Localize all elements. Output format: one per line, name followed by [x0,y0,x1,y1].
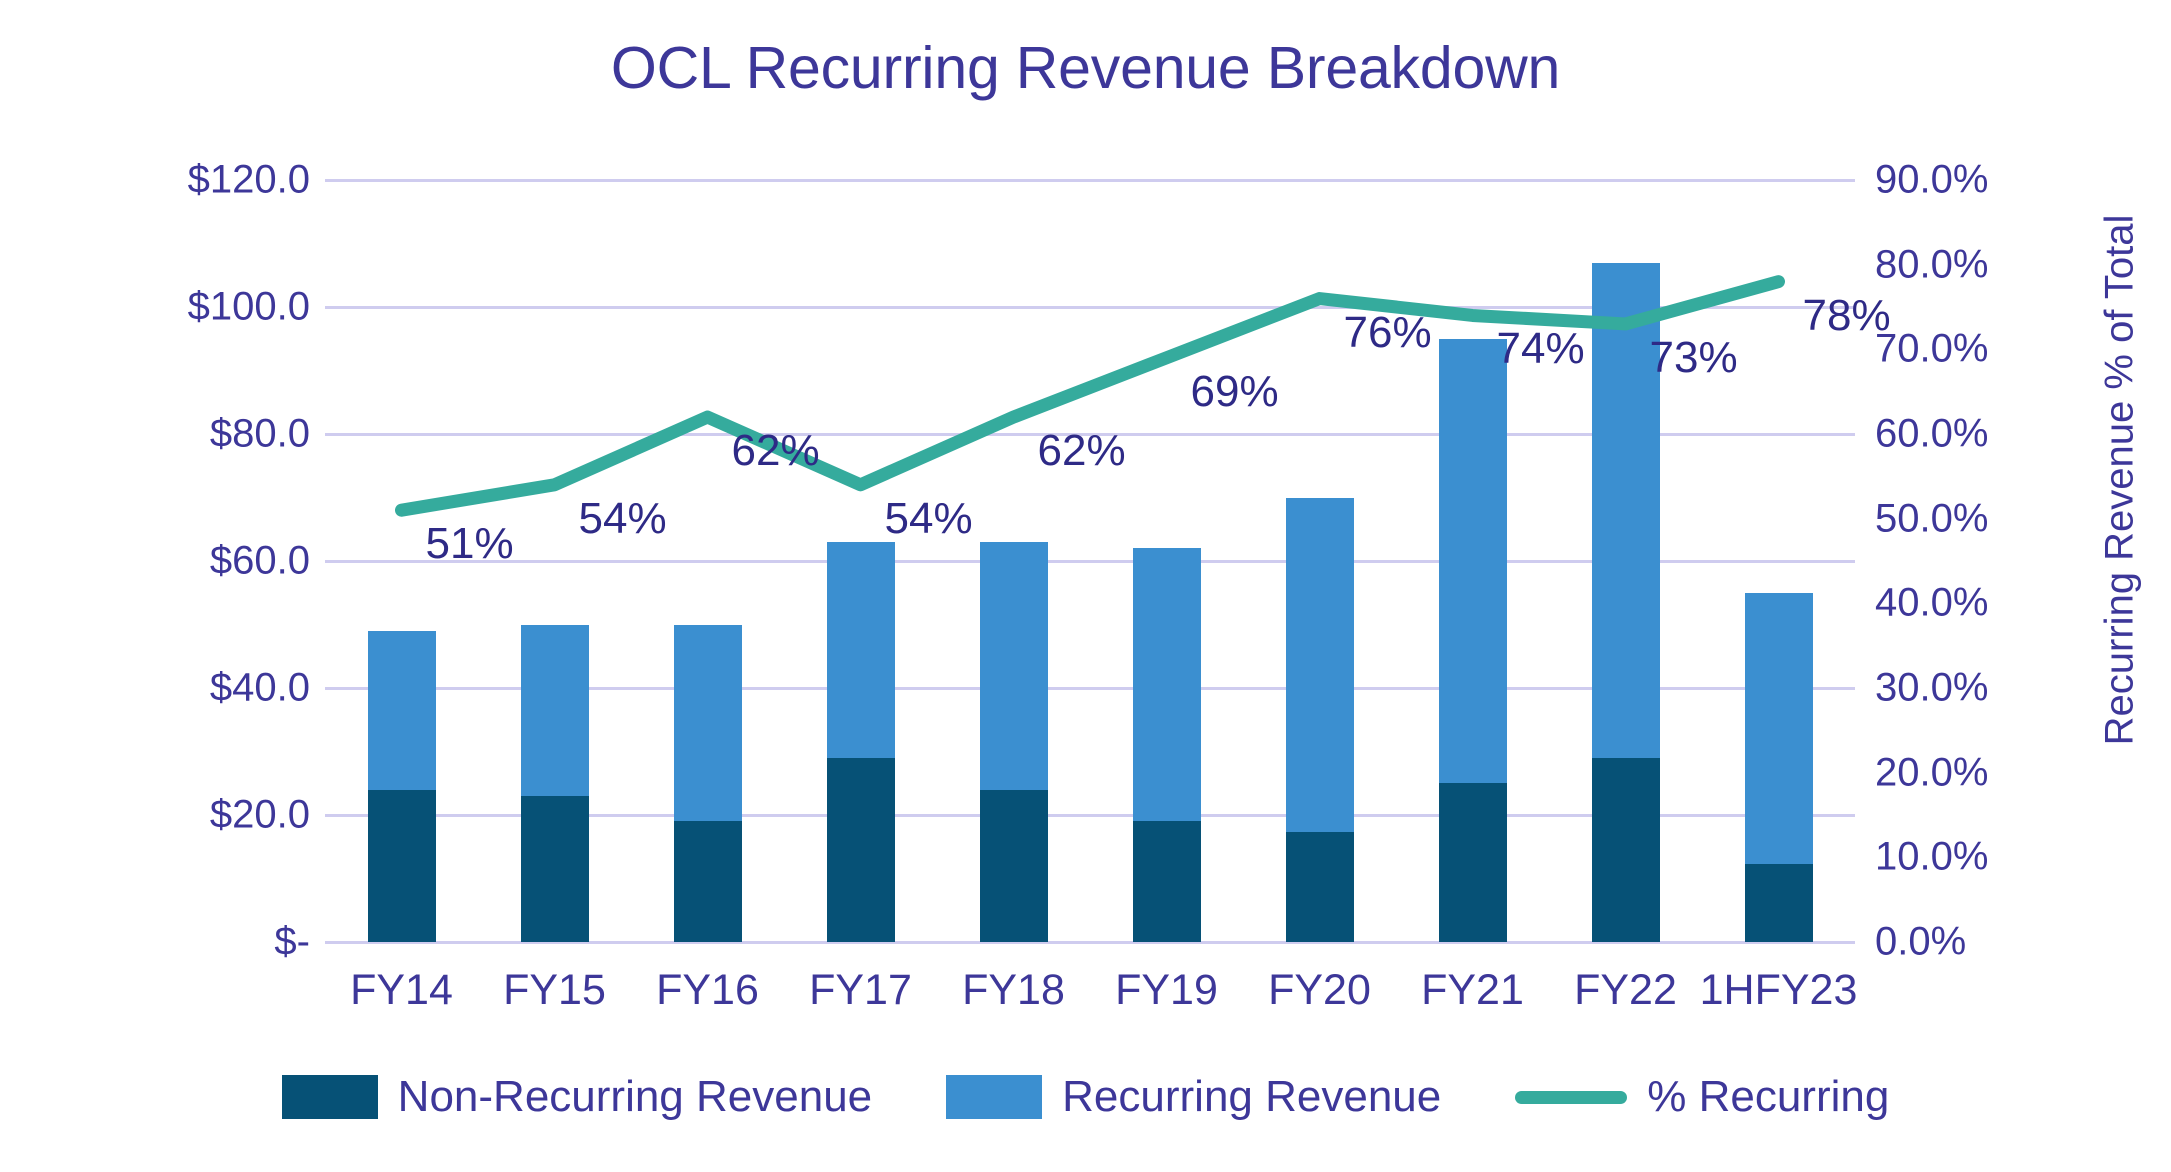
x-axis-tick-label: FY20 [1268,966,1371,1015]
legend-item[interactable]: Non-Recurring Revenue [282,1072,872,1122]
bar-segment-recurring[interactable] [980,542,1048,790]
bar-segment-recurring[interactable] [1745,593,1813,864]
legend-label: Non-Recurring Revenue [398,1072,872,1122]
y-axis-left-tick-label: $20.0 [210,793,310,838]
bar-segment-recurring[interactable] [1592,263,1660,758]
y-axis-left-tick-label: $- [274,920,310,965]
bar-group[interactable] [1745,180,1813,942]
chart-title: OCL Recurring Revenue Breakdown [0,34,2171,102]
legend-item[interactable]: Recurring Revenue [946,1072,1441,1122]
y-axis-right-tick-label: 0.0% [1875,920,1966,965]
bar-group[interactable] [1592,180,1660,942]
y-axis-right-ticks: 0.0%10.0%20.0%30.0%40.0%50.0%60.0%70.0%8… [1875,180,2105,942]
y-axis-right-tick-label: 30.0% [1875,666,1988,711]
bar-segment-recurring[interactable] [1133,548,1201,821]
legend-swatch [946,1075,1042,1119]
x-axis-tick-label: 1HFY23 [1700,966,1858,1015]
bar-group[interactable] [1286,180,1354,942]
y-axis-right-tick-label: 70.0% [1875,327,1988,372]
y-axis-right-tick-label: 60.0% [1875,412,1988,457]
bar-segment-non-recurring[interactable] [368,790,436,942]
x-axis-tick-label: FY15 [503,966,606,1015]
chart-legend: Non-Recurring RevenueRecurring Revenue% … [0,1072,2171,1122]
x-axis-tick-label: FY17 [809,966,912,1015]
bar-group[interactable] [1439,180,1507,942]
bar-segment-non-recurring[interactable] [827,758,895,942]
bar-segment-recurring[interactable] [674,625,742,822]
x-axis-tick-label: FY18 [962,966,1065,1015]
bar-segment-recurring[interactable] [521,625,589,796]
bars-layer [325,180,1855,942]
y-axis-left-ticks: $-$20.0$40.0$60.0$80.0$100.0$120.0 [0,180,310,942]
bar-segment-non-recurring[interactable] [674,821,742,942]
bar-segment-non-recurring[interactable] [1439,783,1507,942]
y-axis-left-tick-label: $60.0 [210,539,310,584]
bar-segment-non-recurring[interactable] [1133,821,1201,942]
legend-swatch [282,1075,378,1119]
bar-segment-non-recurring[interactable] [1745,864,1813,942]
bar-segment-non-recurring[interactable] [1286,832,1354,942]
bar-segment-recurring[interactable] [827,542,895,758]
y-axis-left-tick-label: $100.0 [188,285,310,330]
x-axis-tick-label: FY21 [1421,966,1524,1015]
bar-segment-recurring[interactable] [1439,339,1507,784]
bar-group[interactable] [1133,180,1201,942]
legend-label: Recurring Revenue [1062,1072,1441,1122]
y-axis-right-tick-label: 10.0% [1875,835,1988,880]
y-axis-right-tick-label: 40.0% [1875,581,1988,626]
y-axis-right-tick-label: 20.0% [1875,750,1988,795]
x-axis-tick-label: FY19 [1115,966,1218,1015]
y-axis-left-tick-label: $120.0 [188,158,310,203]
x-axis-tick-label: FY14 [350,966,453,1015]
bar-group[interactable] [521,180,589,942]
bar-segment-non-recurring[interactable] [521,796,589,942]
bar-segment-recurring[interactable] [368,631,436,790]
bar-group[interactable] [368,180,436,942]
legend-label: % Recurring [1647,1072,1889,1122]
legend-line-marker [1515,1091,1627,1104]
y-axis-left-tick-label: $40.0 [210,666,310,711]
bar-segment-recurring[interactable] [1286,498,1354,833]
bar-segment-non-recurring[interactable] [980,790,1048,942]
y-axis-right-tick-label: 90.0% [1875,158,1988,203]
bar-group[interactable] [674,180,742,942]
bar-segment-non-recurring[interactable] [1592,758,1660,942]
y-axis-right-tick-label: 80.0% [1875,242,1988,287]
bar-group[interactable] [980,180,1048,942]
x-axis-tick-label: FY16 [656,966,759,1015]
y-axis-left-tick-label: $80.0 [210,412,310,457]
legend-item[interactable]: % Recurring [1515,1072,1889,1122]
chart-container: OCL Recurring Revenue Breakdown Total Re… [0,0,2171,1172]
plot-area: 51%54%62%54%62%69%76%74%73%78% [325,180,1855,942]
y-axis-right-tick-label: 50.0% [1875,496,1988,541]
bar-group[interactable] [827,180,895,942]
x-axis-tick-label: FY22 [1574,966,1677,1015]
